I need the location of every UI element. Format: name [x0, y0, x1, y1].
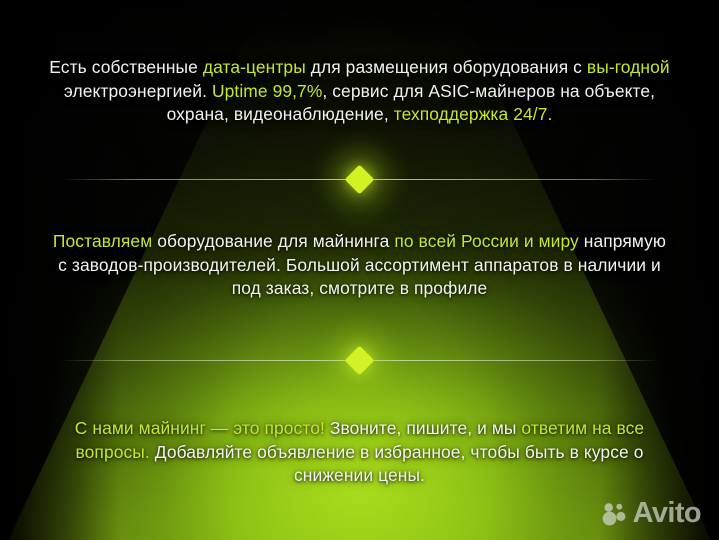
body-text-run: для размещения оборудования с: [306, 57, 587, 77]
divider-1: [60, 162, 659, 196]
body-text-run: Добавляйте объявление в избранное, чтобы…: [150, 442, 644, 486]
avito-wordmark: Avito: [633, 499, 701, 528]
highlighted-text-run: по всей России и миру: [394, 231, 579, 251]
highlighted-text-run: дата-центры: [203, 57, 306, 77]
avito-watermark: Avito: [601, 499, 701, 528]
text-block-2: Поставляем оборудование для майнинга по …: [0, 230, 719, 301]
screenshot-canvas: Есть собственные дата-центры для размеще…: [0, 0, 719, 540]
divider-2: [60, 343, 659, 377]
text-block-1: Есть собственные дата-центры для размеще…: [0, 56, 719, 127]
body-text-run: Есть собственные: [49, 57, 203, 77]
body-text-run: оборудование для майнинга: [152, 231, 394, 251]
content-layer: Есть собственные дата-центры для размеще…: [0, 0, 719, 540]
highlighted-text-run: С нами майнинг — это просто!: [75, 418, 325, 438]
text-block-3: С нами майнинг — это просто! Звоните, пи…: [0, 417, 719, 488]
body-text-run: электроэнергией.: [64, 81, 212, 101]
highlighted-text-run: Uptime 99,7%: [212, 81, 322, 101]
highlighted-text-run: Поставляем: [53, 231, 152, 251]
body-text-run: Звоните, пишите, и мы: [325, 418, 522, 438]
highlighted-text-run: вы-­годной: [587, 57, 670, 77]
highlighted-text-run: техподдержка 24/7.: [394, 104, 553, 124]
avito-logo-icon: [601, 501, 627, 527]
